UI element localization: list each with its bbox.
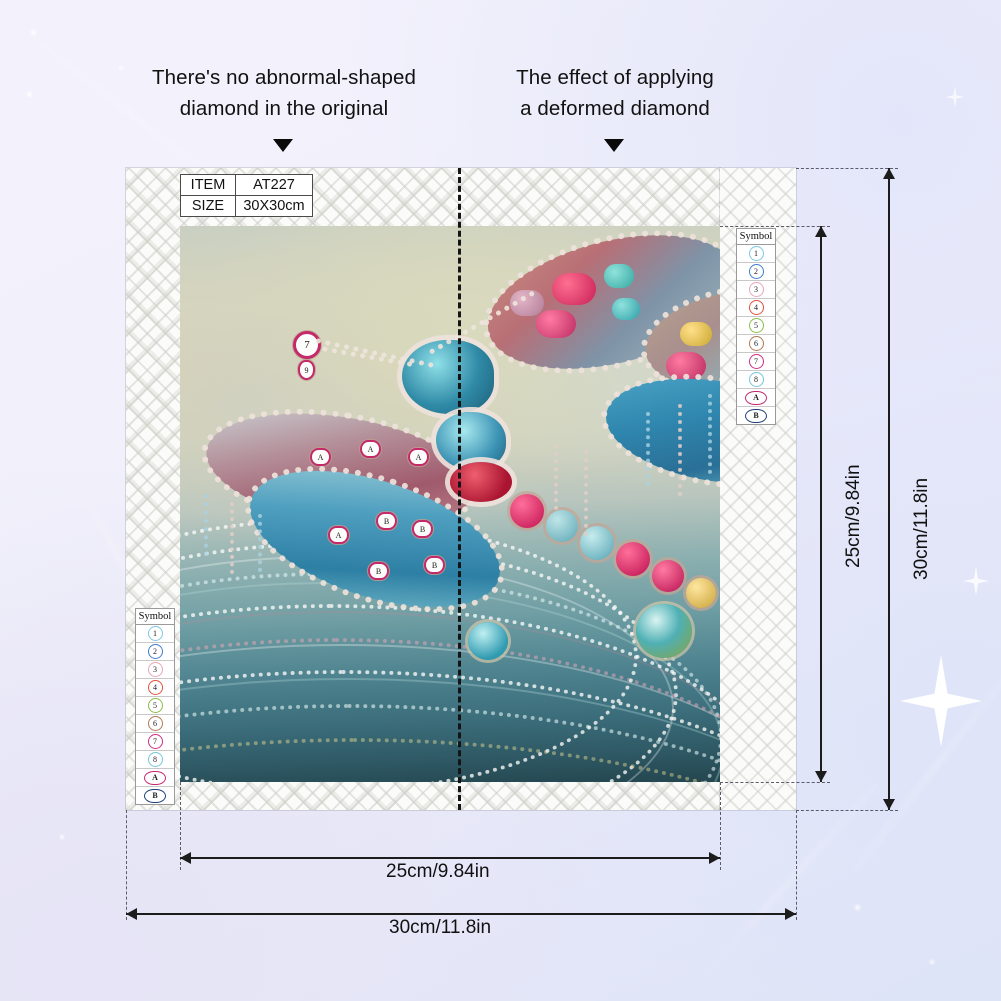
dimension-line-inner-vertical — [820, 226, 822, 782]
dimension-label-inner-width: 25cm/9.84in — [386, 861, 490, 883]
legend-symbol: 5 — [749, 318, 764, 333]
legend-symbol: 8 — [749, 372, 764, 387]
artwork-number-marker-small: 9 — [298, 360, 315, 380]
caption-right-line2: a deformed diamond — [500, 93, 730, 124]
thorax-gem — [436, 412, 506, 470]
legend-symbol: 4 — [749, 300, 764, 315]
product-image: There's no abnormal-shaped diamond in th… — [0, 0, 1001, 1001]
wing-marker-a: A — [310, 448, 331, 466]
legend-symbol: 5 — [148, 698, 163, 713]
legend-row: 8 — [737, 371, 775, 389]
wing-marker-b: B — [424, 556, 445, 574]
legend-row: 4 — [737, 299, 775, 317]
legend-row: 3 — [737, 281, 775, 299]
dimension-line-outer-horizontal — [126, 913, 796, 915]
guide-line — [720, 782, 721, 870]
sparkle-dot-icon — [119, 66, 123, 70]
spec-key: SIZE — [181, 196, 236, 217]
legend-row: 7 — [737, 353, 775, 371]
legend-symbol: B — [144, 789, 166, 803]
legend-row: B — [136, 787, 174, 804]
dangle — [230, 502, 234, 574]
legend-symbol: A — [144, 771, 166, 785]
abdomen-bead — [546, 510, 578, 542]
dimension-label-outer-width: 30cm/11.8in — [389, 917, 491, 939]
spec-value: AT227 — [236, 175, 313, 196]
legend-header: Symbol — [136, 609, 174, 625]
dimension-label-outer-height: 30cm/11.8in — [911, 478, 933, 580]
sparkle-dot-icon — [855, 905, 860, 910]
caption-left-line1: There's no abnormal-shaped — [138, 62, 430, 93]
spec-key: ITEM — [181, 175, 236, 196]
legend-row: 2 — [737, 263, 775, 281]
legend-symbol: A — [745, 391, 767, 405]
wing-lower-right — [593, 359, 720, 504]
legend-symbol: 7 — [148, 734, 163, 749]
wing-gem — [552, 273, 596, 305]
dangle — [554, 444, 558, 510]
arrow-head-up-icon — [883, 168, 895, 179]
wing-gem — [604, 264, 634, 288]
dangle — [204, 494, 208, 556]
legend-header: Symbol — [737, 229, 775, 245]
legend-row: 6 — [737, 335, 775, 353]
symbol-legend-left: Symbol 1 2 3 4 5 6 7 8 A B — [135, 608, 175, 805]
dimension-label-inner-height: 25cm/9.84in — [843, 464, 865, 568]
table-row: ITEM AT227 — [181, 175, 313, 196]
artwork-number-marker: 7 — [293, 331, 321, 359]
legend-row: B — [737, 407, 775, 424]
spec-value: 30X30cm — [236, 196, 313, 217]
water-gem — [468, 622, 508, 660]
abdomen-bead — [652, 560, 684, 592]
legend-symbol: 6 — [749, 336, 764, 351]
abdomen-bead — [510, 494, 544, 528]
dangle — [258, 514, 262, 572]
dimension-line-outer-vertical — [888, 168, 890, 810]
legend-symbol: 3 — [749, 282, 764, 297]
wing-marker-b: B — [412, 520, 433, 538]
legend-row: 1 — [136, 625, 174, 643]
legend-symbol: 1 — [749, 246, 764, 261]
comparison-divider — [458, 168, 461, 810]
legend-symbol: 2 — [148, 644, 163, 659]
wing-marker-b: B — [376, 512, 397, 530]
legend-symbol: 8 — [148, 752, 163, 767]
dragonfly-artwork: A A A B B B B A — [180, 226, 720, 782]
wing-gem — [612, 298, 640, 320]
legend-symbol: 4 — [148, 680, 163, 695]
guide-line — [796, 810, 797, 920]
wing-marker-a: A — [360, 440, 381, 458]
guide-line — [126, 810, 127, 920]
dangle — [708, 394, 712, 474]
dimension-line-inner-horizontal — [180, 857, 720, 859]
abdomen-bead — [616, 542, 650, 576]
legend-row: 2 — [136, 643, 174, 661]
legend-row: 7 — [136, 733, 174, 751]
spec-table: ITEM AT227 SIZE 30X30cm — [180, 174, 313, 217]
wing-marker-b: B — [368, 562, 389, 580]
legend-row: 1 — [737, 245, 775, 263]
arrow-head-down-icon — [815, 771, 827, 782]
legend-row: 6 — [136, 715, 174, 733]
wing-marker-a: A — [408, 448, 429, 466]
legend-row: 5 — [136, 697, 174, 715]
legend-symbol: 1 — [148, 626, 163, 641]
sparkle-dot-icon — [27, 92, 32, 97]
dragonfly-head — [402, 340, 494, 414]
dangle — [678, 404, 682, 496]
dragonfly: A A A B B B B A — [180, 226, 720, 782]
down-triangle-icon — [604, 139, 624, 152]
legend-symbol: 7 — [749, 354, 764, 369]
legend-row: 8 — [136, 751, 174, 769]
down-triangle-icon — [273, 139, 293, 152]
legend-row: A — [136, 769, 174, 787]
dangle — [584, 450, 588, 536]
legend-row: 3 — [136, 661, 174, 679]
arrow-head-left-icon — [126, 908, 137, 920]
sparkle-dot-icon — [60, 835, 64, 839]
caption-left-line2: diamond in the original — [138, 93, 430, 124]
guide-line — [796, 810, 898, 811]
legend-symbol: 2 — [749, 264, 764, 279]
dangle — [646, 412, 650, 486]
legend-symbol: B — [745, 409, 767, 423]
wing-gem — [680, 322, 712, 346]
symbol-legend-right: Symbol 1 2 3 4 5 6 7 8 A B — [736, 228, 776, 425]
caption-left: There's no abnormal-shaped diamond in th… — [138, 62, 430, 124]
legend-row: 4 — [136, 679, 174, 697]
arrow-head-right-icon — [709, 852, 720, 864]
abdomen-bead — [686, 578, 716, 608]
legend-row: A — [737, 389, 775, 407]
caption-right: The effect of applying a deformed diamon… — [500, 62, 730, 124]
sparkle-dot-icon — [31, 30, 36, 35]
legend-row: 5 — [737, 317, 775, 335]
legend-symbol: 3 — [148, 662, 163, 677]
water-gem — [636, 604, 692, 658]
arrow-head-down-icon — [883, 799, 895, 810]
arrow-head-up-icon — [815, 226, 827, 237]
arrow-head-left-icon — [180, 852, 191, 864]
caption-right-line1: The effect of applying — [500, 62, 730, 93]
guide-line — [720, 226, 830, 227]
legend-symbol: 6 — [148, 716, 163, 731]
sparkle-dot-icon — [930, 960, 934, 964]
arrow-head-right-icon — [785, 908, 796, 920]
wing-marker-a: A — [328, 526, 349, 544]
wing-gem — [536, 310, 576, 338]
guide-line — [720, 782, 830, 783]
table-row: SIZE 30X30cm — [181, 196, 313, 217]
